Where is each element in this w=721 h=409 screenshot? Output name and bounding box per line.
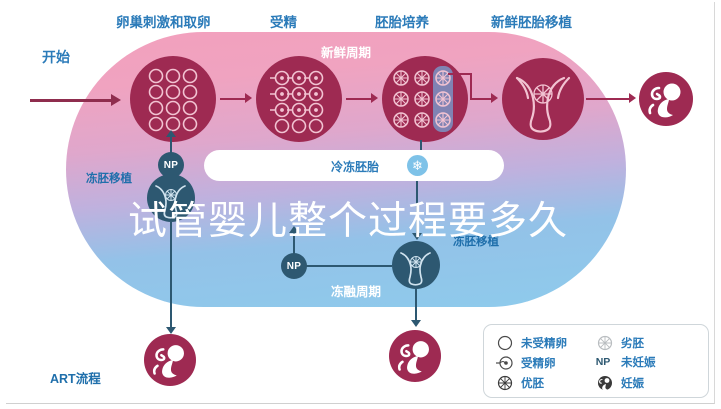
connector-arrow-np-left-up [166,130,176,137]
connector-stage4-outcome [586,98,630,100]
fetus-icon [389,330,441,382]
poor-embryo-icon [596,334,614,352]
legend-label-pregnant: 妊娠 [621,375,644,391]
connector-arrow-1 [245,93,252,103]
legend-item-not-pregnant: NP 未妊娠 [592,354,656,370]
connector-stage1-stage2 [220,98,246,100]
diagram-canvas: 卵巢刺激和取卵 受精 胚胎培养 新鲜胚胎移植 新鲜周期 冻融周期 开始 [0,0,721,409]
legend-item-poor-embryo: 劣胚 [596,334,644,352]
watermark-text: 试管婴儿整个过程要多久 [128,190,568,246]
np-badge-bottom: NP [281,253,307,279]
frozen-transfer-label-left: 冻胚移植 [86,170,132,186]
connector-arrow-3 [491,93,498,103]
legend-item-fertilized: 受精卵 [496,354,556,372]
embryo-grid-icon [382,56,468,142]
legend-item-pregnant: 妊娠 [596,374,644,392]
start-label: 开始 [42,47,70,67]
legend-label-not-pregnant: 未妊娠 [621,354,656,370]
connector-elbow-top [448,73,472,75]
uterus-transfer-icon [392,241,440,289]
connector-np-left-up [170,134,172,156]
legend-box: 未受精卵 受精卵 优胚 [483,324,709,398]
frozen-transfer-circle-bottom[interactable] [392,241,440,289]
connector-arrow-4 [629,93,636,103]
outcome-pregnancy-bottom-left[interactable] [144,334,196,386]
connector-stage3-stage4 [470,98,492,100]
connector-np-to-frozen-uterus [306,265,392,267]
legend-label-poor-embryo: 劣胚 [621,335,644,351]
stage-label-ovarian-stimulation: 卵巢刺激和取卵 [116,11,211,31]
stage-circle-fertilization[interactable] [256,56,342,142]
start-arrow-head [111,94,121,106]
frozen-cycle-label: 冻融周期 [331,281,381,300]
start-arrow-line [30,99,112,102]
connector-arrow-2 [371,93,378,103]
image-frame: 卵巢刺激和取卵 受精 胚胎培养 新鲜胚胎移植 新鲜周期 冻融周期 开始 [6,2,715,404]
stage-label-fertilization: 受精 [270,11,297,31]
fertilized-eggs-icon [256,56,342,142]
np-text-icon: NP [592,356,614,368]
legend-label-good-embryo: 优胚 [521,375,544,391]
stage-circle-fresh-transfer[interactable] [502,58,584,140]
connector-arrow-left-down [166,327,176,334]
good-embryo-icon [496,374,514,392]
outcome-pregnancy-bottom-center[interactable] [389,330,441,382]
stage-circle-embryo-culture[interactable] [382,56,468,142]
frozen-embryo-label: 冷冻胚胎 [331,158,379,175]
snowflake-icon: ❄ [407,155,428,176]
uterus-transfer-icon [502,58,584,140]
outcome-pregnancy-top-right[interactable] [639,72,693,126]
connector-elbow-vertical [470,74,472,98]
legend-item-unfertilized: 未受精卵 [496,334,567,352]
stage-label-fresh-transfer: 新鲜胚胎移植 [491,11,572,31]
legend-label-unfertilized: 未受精卵 [521,335,567,351]
empty-circle-icon [496,334,514,352]
fetus-icon [144,334,196,386]
art-process-label: ART流程 [50,368,101,387]
legend-item-good-embryo: 优胚 [496,374,544,392]
fetus-icon [639,72,693,126]
pregnancy-icon [596,374,614,392]
connector-arrow-bottom-down [411,320,421,327]
legend-label-fertilized: 受精卵 [521,355,556,371]
connector-stage2-stage3 [346,98,372,100]
fertilized-egg-icon [496,354,514,372]
stage-label-embryo-culture: 胚胎培养 [375,11,429,31]
